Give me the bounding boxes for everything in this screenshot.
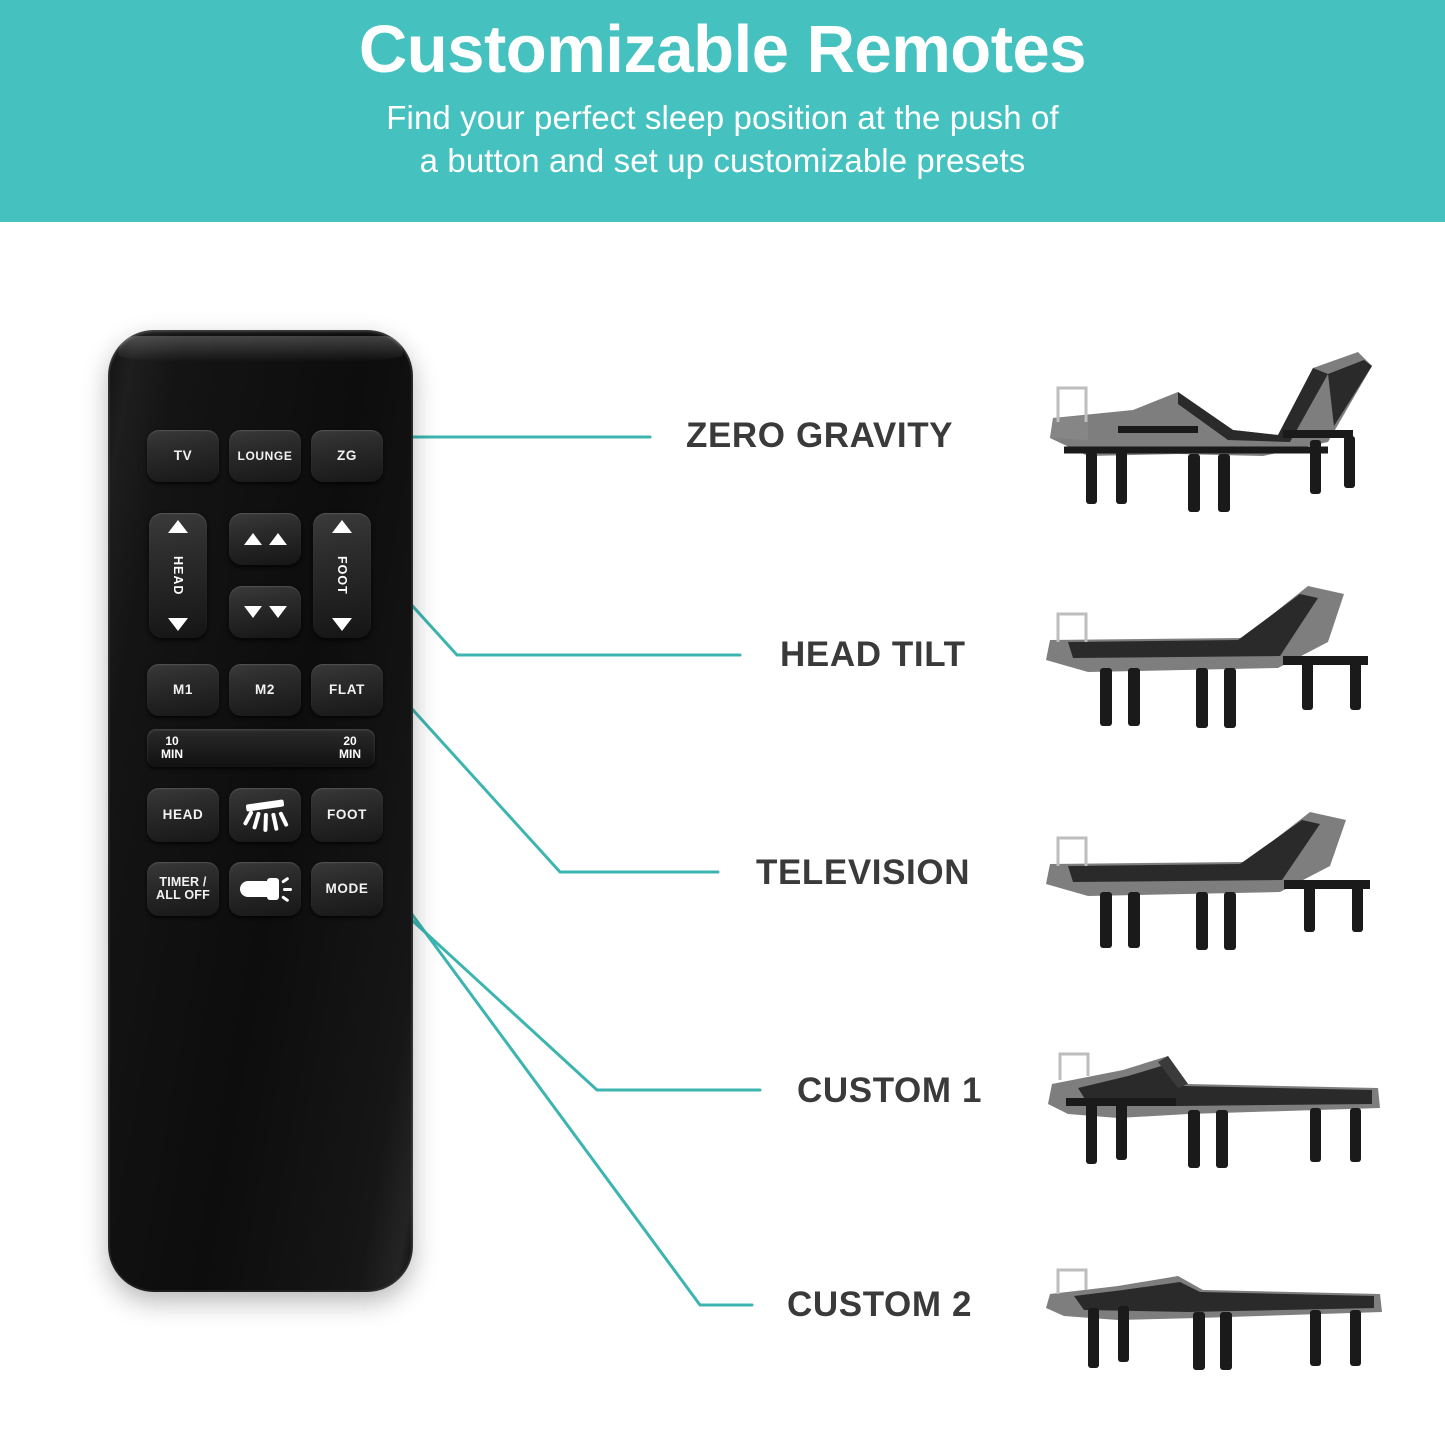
flashlight-spark (281, 877, 289, 884)
button-head-adjust[interactable]: HEAD (149, 513, 207, 638)
page-title: Customizable Remotes (359, 16, 1086, 83)
light-ray (271, 813, 279, 831)
button-flashlight[interactable] (229, 862, 301, 916)
header-banner: Customizable Remotes Find your perfect s… (0, 0, 1445, 222)
triangle-up-icon (332, 520, 352, 533)
flashlight-spark (281, 895, 289, 902)
double-triangle-down-icon-right (269, 606, 287, 618)
button-massage-foot[interactable]: FOOT (311, 788, 383, 842)
button-mode[interactable]: MODE (311, 862, 383, 916)
timer-all-off-line-2: ALL OFF (156, 889, 210, 902)
bed-custom-1 (1028, 1022, 1398, 1187)
button-both-up[interactable] (229, 513, 301, 565)
button-timer-all-off[interactable]: TIMER / ALL OFF (147, 862, 219, 916)
bed-head-tilt (1028, 572, 1398, 742)
triangle-down-icon (332, 618, 352, 631)
double-triangle-up-icon-left (244, 533, 262, 545)
timer-10-min[interactable]: 10 MIN (161, 735, 183, 760)
timer-10-unit: MIN (161, 748, 183, 761)
remote-control: TV LOUNGE ZG HEAD FOOT M1 M2 FLAT (108, 330, 413, 1292)
callout-label-television: TELEVISION (756, 853, 970, 893)
subtitle-line-2: a button and set up customizable presets (386, 140, 1058, 183)
flashlight-head (267, 878, 279, 900)
triangle-up-icon (168, 520, 188, 533)
button-massage-head[interactable]: HEAD (147, 788, 219, 842)
double-triangle-down-icon-left (244, 606, 262, 618)
bed-television (1028, 792, 1398, 962)
flashlight-icon (240, 875, 290, 903)
callout-label-head-tilt: HEAD TILT (780, 635, 966, 675)
button-flat[interactable]: FLAT (311, 664, 383, 716)
foot-rocker-label: FOOT (335, 556, 349, 595)
flashlight-spark (283, 888, 292, 891)
light-ray (278, 811, 289, 827)
timer-bar[interactable]: 10 MIN 20 MIN (147, 729, 375, 767)
subtitle-line-1: Find your perfect sleep position at the … (386, 97, 1058, 140)
callout-label-custom-2: CUSTOM 2 (787, 1285, 972, 1325)
button-zg[interactable]: ZG (311, 430, 383, 482)
light-ray (263, 813, 268, 832)
underbed-light-icon (242, 798, 288, 832)
bed-zero-gravity (1028, 330, 1398, 525)
callout-label-custom-1: CUSTOM 1 (797, 1071, 982, 1111)
head-rocker-label: HEAD (171, 556, 185, 595)
timer-20-min[interactable]: 20 MIN (339, 735, 361, 760)
button-lounge[interactable]: LOUNGE (229, 430, 301, 482)
bed-custom-2 (1028, 1242, 1398, 1387)
double-triangle-up-icon-right (269, 533, 287, 545)
button-tv[interactable]: TV (147, 430, 219, 482)
page-subtitle: Find your perfect sleep position at the … (386, 97, 1058, 183)
button-m1[interactable]: M1 (147, 664, 219, 716)
timer-20-unit: MIN (339, 748, 361, 761)
light-ray (252, 811, 261, 829)
button-m2[interactable]: M2 (229, 664, 301, 716)
callout-label-zero-gravity: ZERO GRAVITY (686, 416, 953, 456)
flashlight-body (240, 881, 270, 897)
light-ray (243, 810, 254, 826)
remote-top-gloss (118, 336, 403, 362)
button-foot-adjust[interactable]: FOOT (313, 513, 371, 638)
button-both-down[interactable] (229, 586, 301, 638)
button-underbed-light[interactable] (229, 788, 301, 842)
triangle-down-icon (168, 618, 188, 631)
